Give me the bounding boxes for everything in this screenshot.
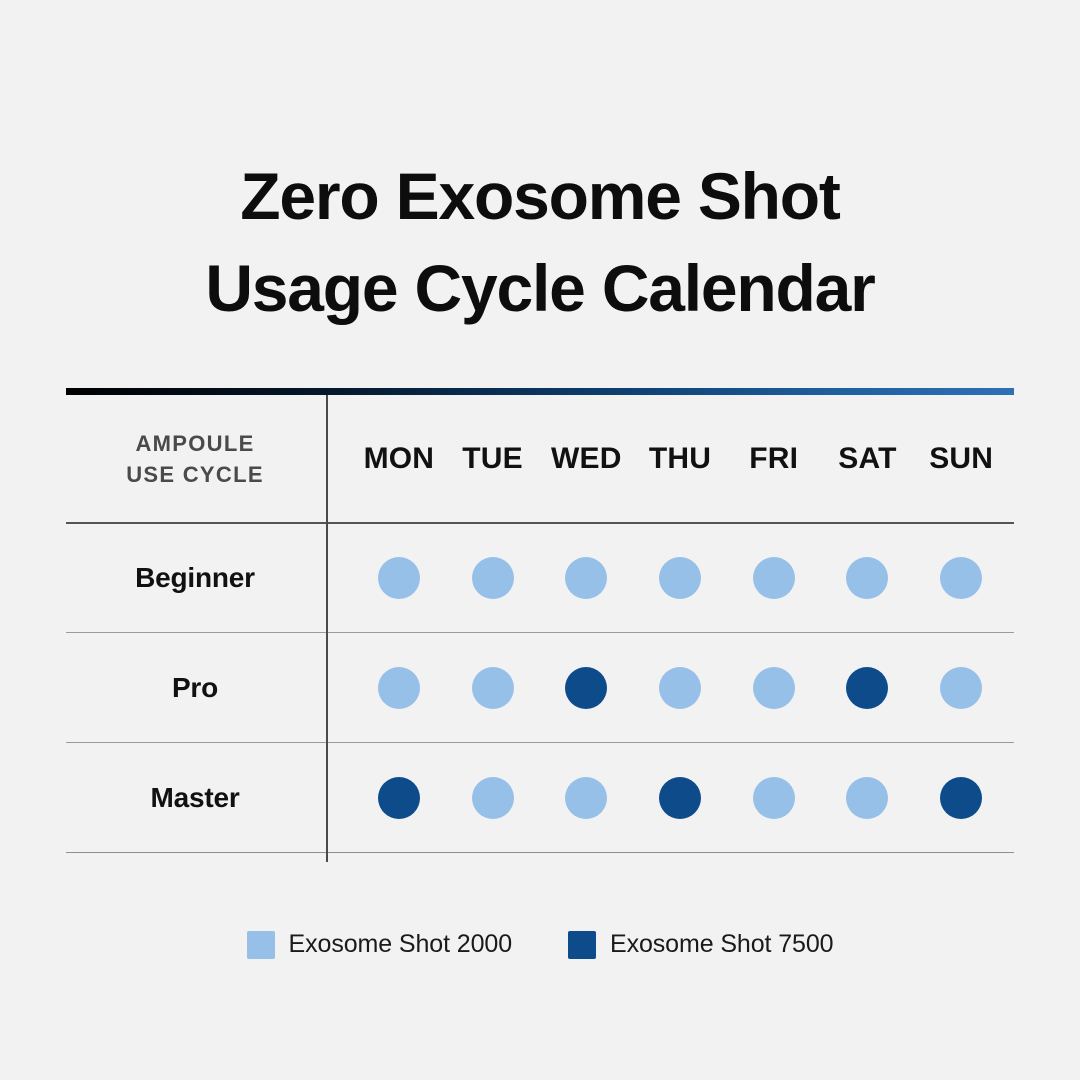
dosage-dot [378,667,420,709]
legend: Exosome Shot 2000 Exosome Shot 7500 [0,930,1080,959]
day-header-label: WED [551,442,622,476]
dot-cell-fri [727,777,821,819]
legend-item-2000: Exosome Shot 2000 [247,930,512,959]
infographic-page: Zero Exosome Shot Usage Cycle Calendar A… [0,0,1080,1080]
legend-item-7500: Exosome Shot 7500 [568,930,833,959]
dosage-dot [753,557,795,599]
usage-cycle-table: AMPOULE USE CYCLE MON TUE WED THU FRI SA… [66,388,1014,853]
table-row: Pro [66,632,1014,742]
corner-header-line-2: USE CYCLE [66,459,324,490]
dot-cell-tue [446,667,540,709]
day-header-label: THU [649,442,711,476]
dosage-dot [565,557,607,599]
page-title-line-2: Usage Cycle Calendar [0,242,1080,334]
table-row: Beginner [66,522,1014,632]
day-header-thu: THU [633,442,727,476]
dot-cell-sat [821,667,915,709]
day-header-fri: FRI [727,442,821,476]
tier-label-cell: Pro [66,672,326,704]
tier-label-cell: Master [66,782,326,814]
legend-label: Exosome Shot 2000 [289,930,512,959]
table-top-gradient-rule [66,388,1014,395]
day-header-label: SUN [929,442,993,476]
dosage-dot [846,557,888,599]
dosage-dot [940,667,982,709]
legend-swatch-icon [247,931,275,959]
dot-cell-wed [539,667,633,709]
dot-cell-thu [633,777,727,819]
table-grid: AMPOULE USE CYCLE MON TUE WED THU FRI SA… [66,395,1014,853]
tier-dot-cells [326,667,1014,709]
day-header-tue: TUE [446,442,540,476]
dot-cell-tue [446,777,540,819]
dot-cell-sun [914,777,1008,819]
dot-cell-sat [821,777,915,819]
dosage-dot [659,667,701,709]
dot-cell-sun [914,667,1008,709]
day-header-mon: MON [352,442,446,476]
dosage-dot [753,667,795,709]
dosage-dot [940,777,982,819]
day-header-cells: MON TUE WED THU FRI SAT SUN [326,442,1014,476]
legend-label: Exosome Shot 7500 [610,930,833,959]
day-header-label: TUE [462,442,523,476]
tier-label: Beginner [135,562,255,593]
dosage-dot [940,557,982,599]
page-title-line-1: Zero Exosome Shot [0,150,1080,242]
dot-cell-mon [352,667,446,709]
dosage-dot [472,777,514,819]
dosage-dot [378,777,420,819]
dot-cell-fri [727,557,821,599]
tier-dot-cells [326,557,1014,599]
table-corner-header: AMPOULE USE CYCLE [66,428,326,490]
day-header-label: FRI [749,442,798,476]
dosage-dot [659,557,701,599]
dot-cell-wed [539,557,633,599]
dosage-dot [472,667,514,709]
dot-cell-mon [352,557,446,599]
dosage-dot [565,777,607,819]
page-title: Zero Exosome Shot Usage Cycle Calendar [0,150,1080,334]
legend-swatch-icon [568,931,596,959]
dot-cell-sat [821,557,915,599]
tier-dot-cells [326,777,1014,819]
dosage-dot [846,777,888,819]
dot-cell-sun [914,557,1008,599]
tier-label-cell: Beginner [66,562,326,594]
table-header-row: AMPOULE USE CYCLE MON TUE WED THU FRI SA… [66,395,1014,522]
dot-cell-fri [727,667,821,709]
tier-label: Pro [172,672,218,703]
dosage-dot [378,557,420,599]
dot-cell-tue [446,557,540,599]
table-row: Master [66,742,1014,852]
dot-cell-wed [539,777,633,819]
tier-label: Master [150,782,239,813]
day-header-label: SAT [838,442,896,476]
dosage-dot [472,557,514,599]
day-header-sun: SUN [914,442,1008,476]
corner-header-line-1: AMPOULE [66,428,324,459]
table-bottom-rule [66,852,1014,853]
dosage-dot [659,777,701,819]
dosage-dot [565,667,607,709]
day-header-wed: WED [539,442,633,476]
dot-cell-mon [352,777,446,819]
day-header-label: MON [364,442,435,476]
day-header-sat: SAT [821,442,915,476]
dosage-dot [846,667,888,709]
table-vertical-divider [326,395,328,862]
dot-cell-thu [633,557,727,599]
dot-cell-thu [633,667,727,709]
dosage-dot [753,777,795,819]
